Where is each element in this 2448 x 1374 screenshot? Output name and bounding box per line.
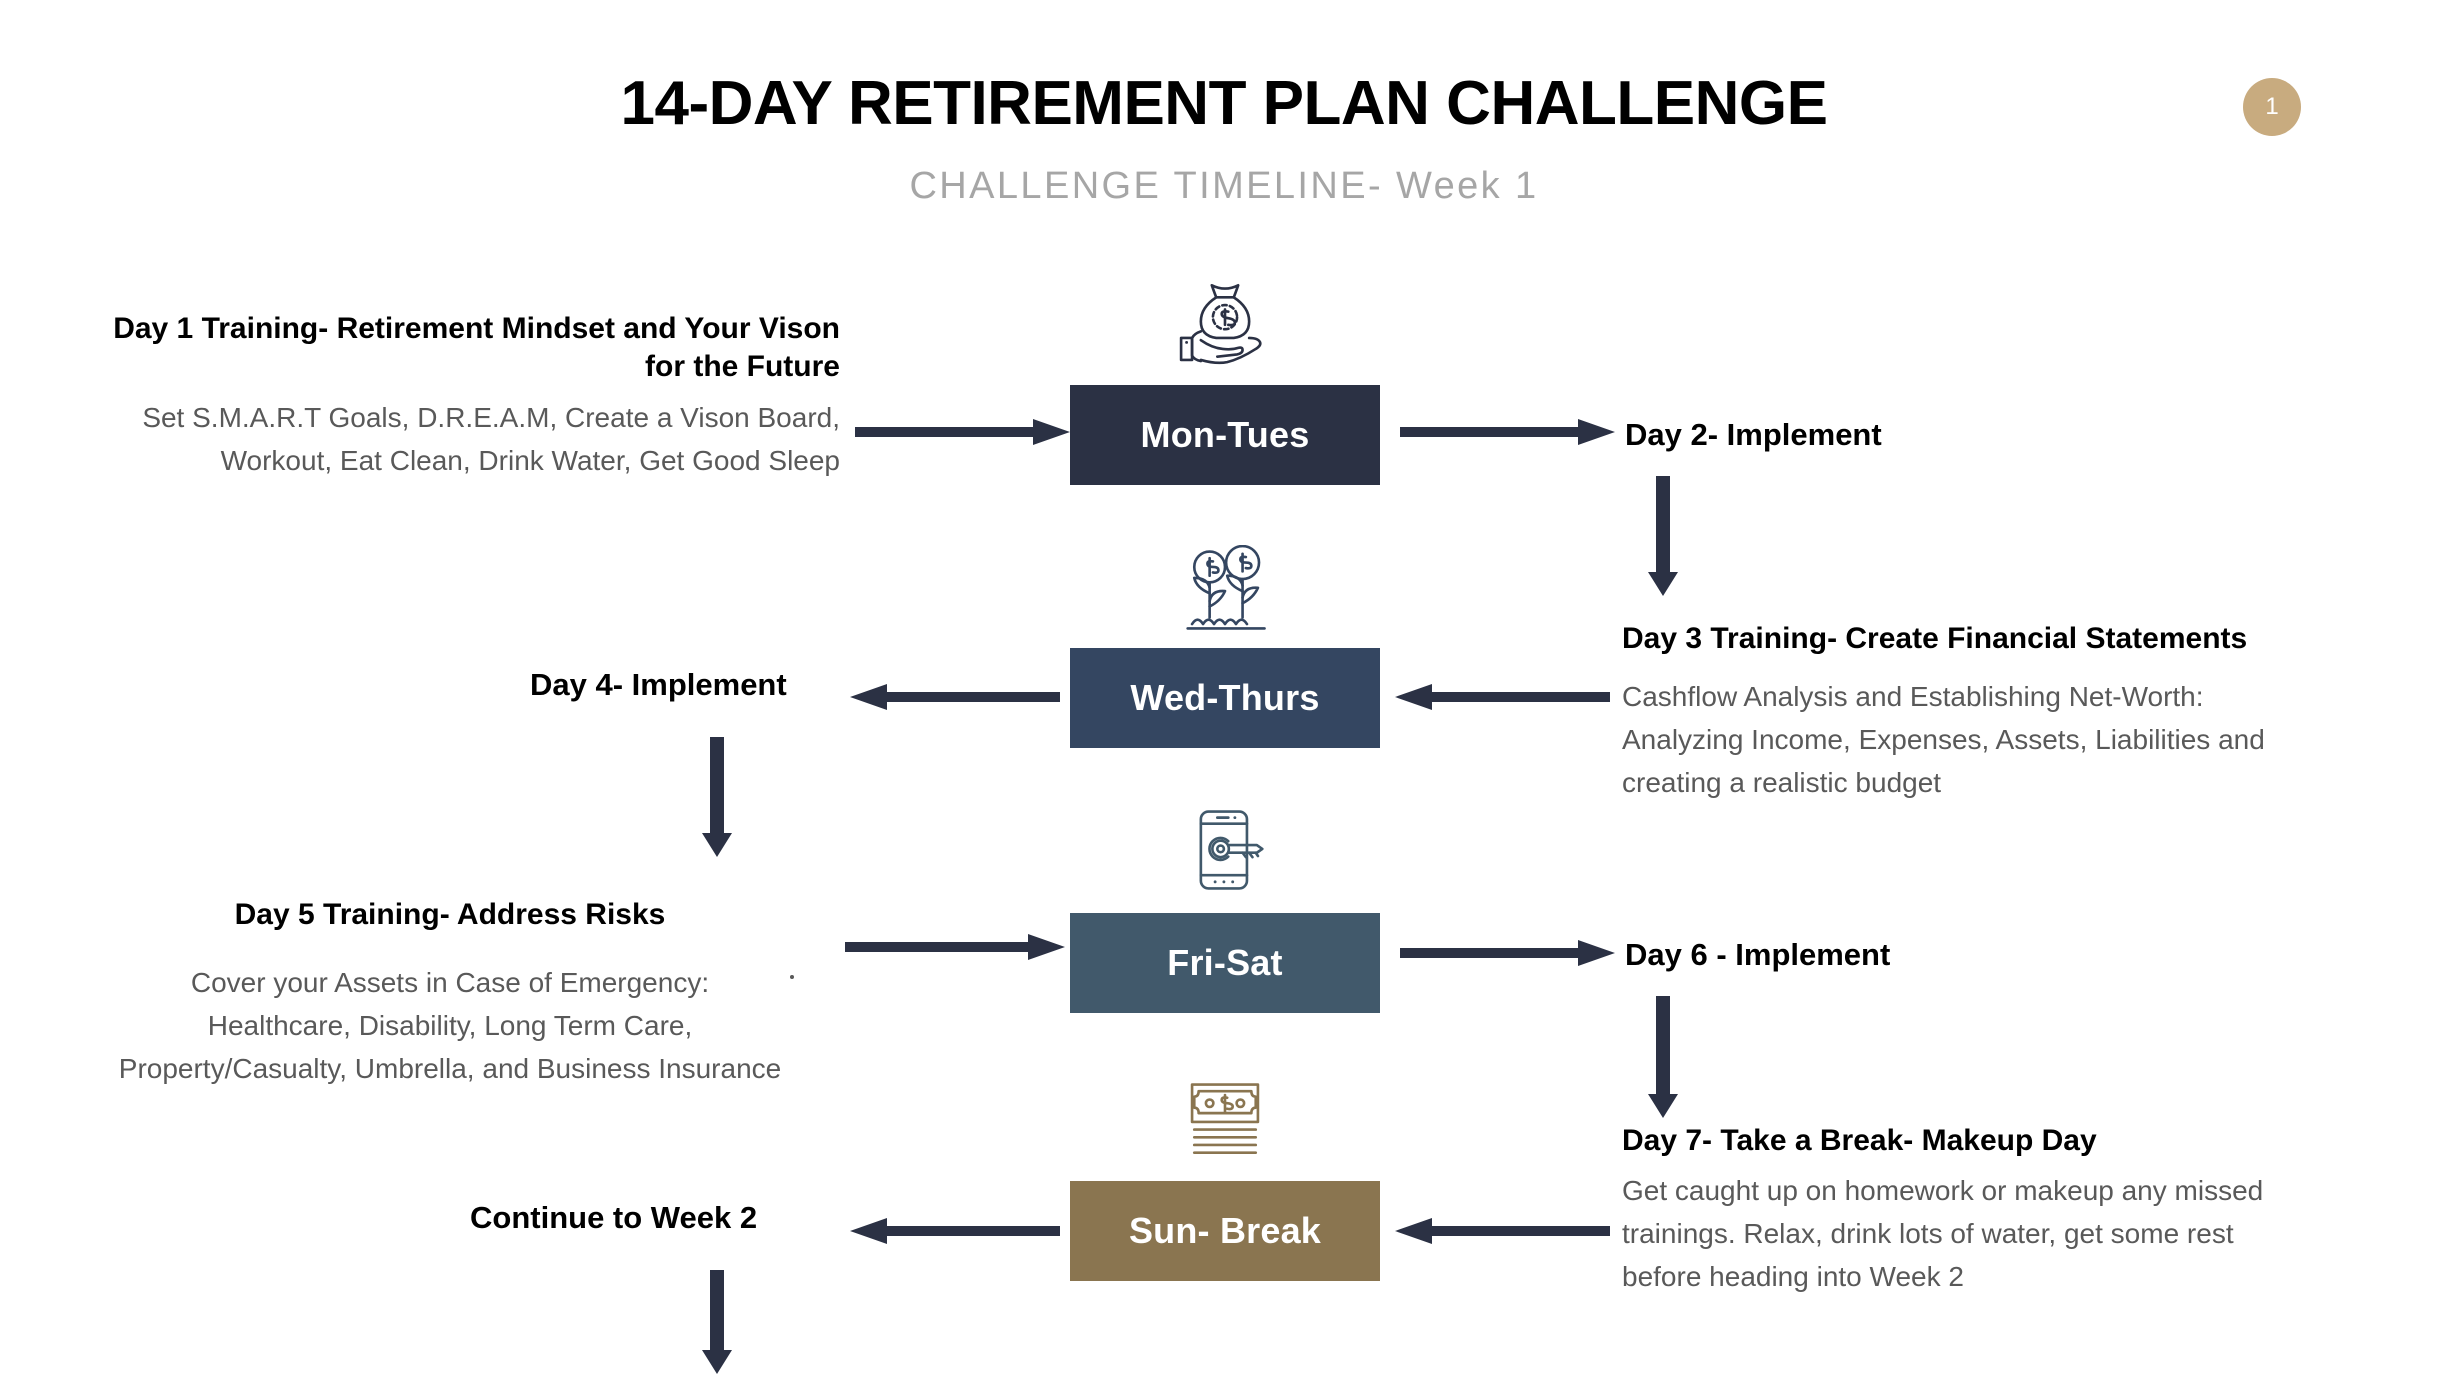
day7-text-block: Day 7- Take a Break- Makeup Day Get caug… [1622,1122,2412,1299]
day-box-mon-tues[interactable]: Mon-Tues [1070,385,1380,485]
arrow-wed-thurs-to-day4 [850,682,1060,712]
arrow-week2-continue-down [702,1270,732,1374]
day-box-label: Sun- Break [1129,1210,1321,1252]
slide-canvas: 14-DAY RETIREMENT PLAN CHALLENGE CHALLEN… [0,0,2448,1374]
page-subtitle: CHALLENGE TIMELINE- Week 1 [0,165,2448,208]
stray-punctuation-dot [790,975,794,979]
day-box-fri-sat[interactable]: Fri-Sat [1070,913,1380,1013]
money-plants-growing-icon [1170,545,1280,635]
smartphone-with-key-icon [1170,805,1280,895]
day1-heading: Day 1 Training- Retirement Mindset and Y… [100,310,840,387]
day2-heading: Day 2- Implement [1625,417,1882,453]
day5-body-line-1: Cover your Assets in Case of Emergency: [60,962,840,1005]
day3-body-line-3: creating a realistic budget [1622,762,2412,805]
arrow-day7-to-sun-break [1395,1216,1610,1246]
continue-week2-heading: Continue to Week 2 [470,1200,757,1236]
day5-heading: Day 5 Training- Address Risks [60,896,840,934]
day-box-label: Fri-Sat [1167,942,1282,984]
day7-body-line-1: Get caught up on homework or makeup any … [1622,1170,2412,1213]
day5-text-block: Day 5 Training- Address Risks Cover your… [60,896,840,1091]
day5-body-line-2: Healthcare, Disability, Long Term Care, [60,1005,840,1048]
arrow-fri-sat-to-day6 [1400,938,1615,968]
day7-heading: Day 7- Take a Break- Makeup Day [1622,1122,2412,1160]
arrow-day1-to-mon-tues [855,417,1070,447]
arrow-mon-tues-to-day2 [1400,417,1615,447]
day6-heading: Day 6 - Implement [1625,937,1890,973]
day3-heading: Day 3 Training- Create Financial Stateme… [1622,620,2412,658]
day4-heading: Day 4- Implement [530,667,787,703]
day1-body-line-2: Workout, Eat Clean, Drink Water, Get Goo… [100,440,840,483]
day3-body-line-1: Cashflow Analysis and Establishing Net-W… [1622,676,2412,719]
arrow-day3-to-wed-thurs [1395,682,1610,712]
arrow-day6-to-day7 [1648,996,1678,1118]
day7-body-line-3: before heading into Week 2 [1622,1256,2412,1299]
arrow-sun-break-to-week2 [850,1216,1060,1246]
day-box-wed-thurs[interactable]: Wed-Thurs [1070,648,1380,748]
day7-body-line-2: trainings. Relax, drink lots of water, g… [1622,1213,2412,1256]
day3-body-line-2: Analyzing Income, Expenses, Assets, Liab… [1622,719,2412,762]
arrow-day5-to-fri-sat [845,932,1065,962]
day1-text-block: Day 1 Training- Retirement Mindset and Y… [100,310,840,482]
page-title: 14-DAY RETIREMENT PLAN CHALLENGE [0,68,2448,139]
day1-body-line-1: Set S.M.A.R.T Goals, D.R.E.A.M, Create a… [100,397,840,440]
cash-banknotes-icon [1170,1078,1280,1168]
day3-text-block: Day 3 Training- Create Financial Stateme… [1622,620,2412,805]
day5-body-line-3: Property/Casualty, Umbrella, and Busines… [60,1048,840,1091]
page-number-badge: 1 [2243,78,2301,136]
arrow-day4-to-day5 [702,737,732,857]
day-box-label: Mon-Tues [1141,414,1310,456]
money-bag-in-hand-icon [1170,282,1280,372]
day-box-label: Wed-Thurs [1130,677,1319,719]
day-box-sun-break[interactable]: Sun- Break [1070,1181,1380,1281]
arrow-day2-to-day3 [1648,476,1678,596]
